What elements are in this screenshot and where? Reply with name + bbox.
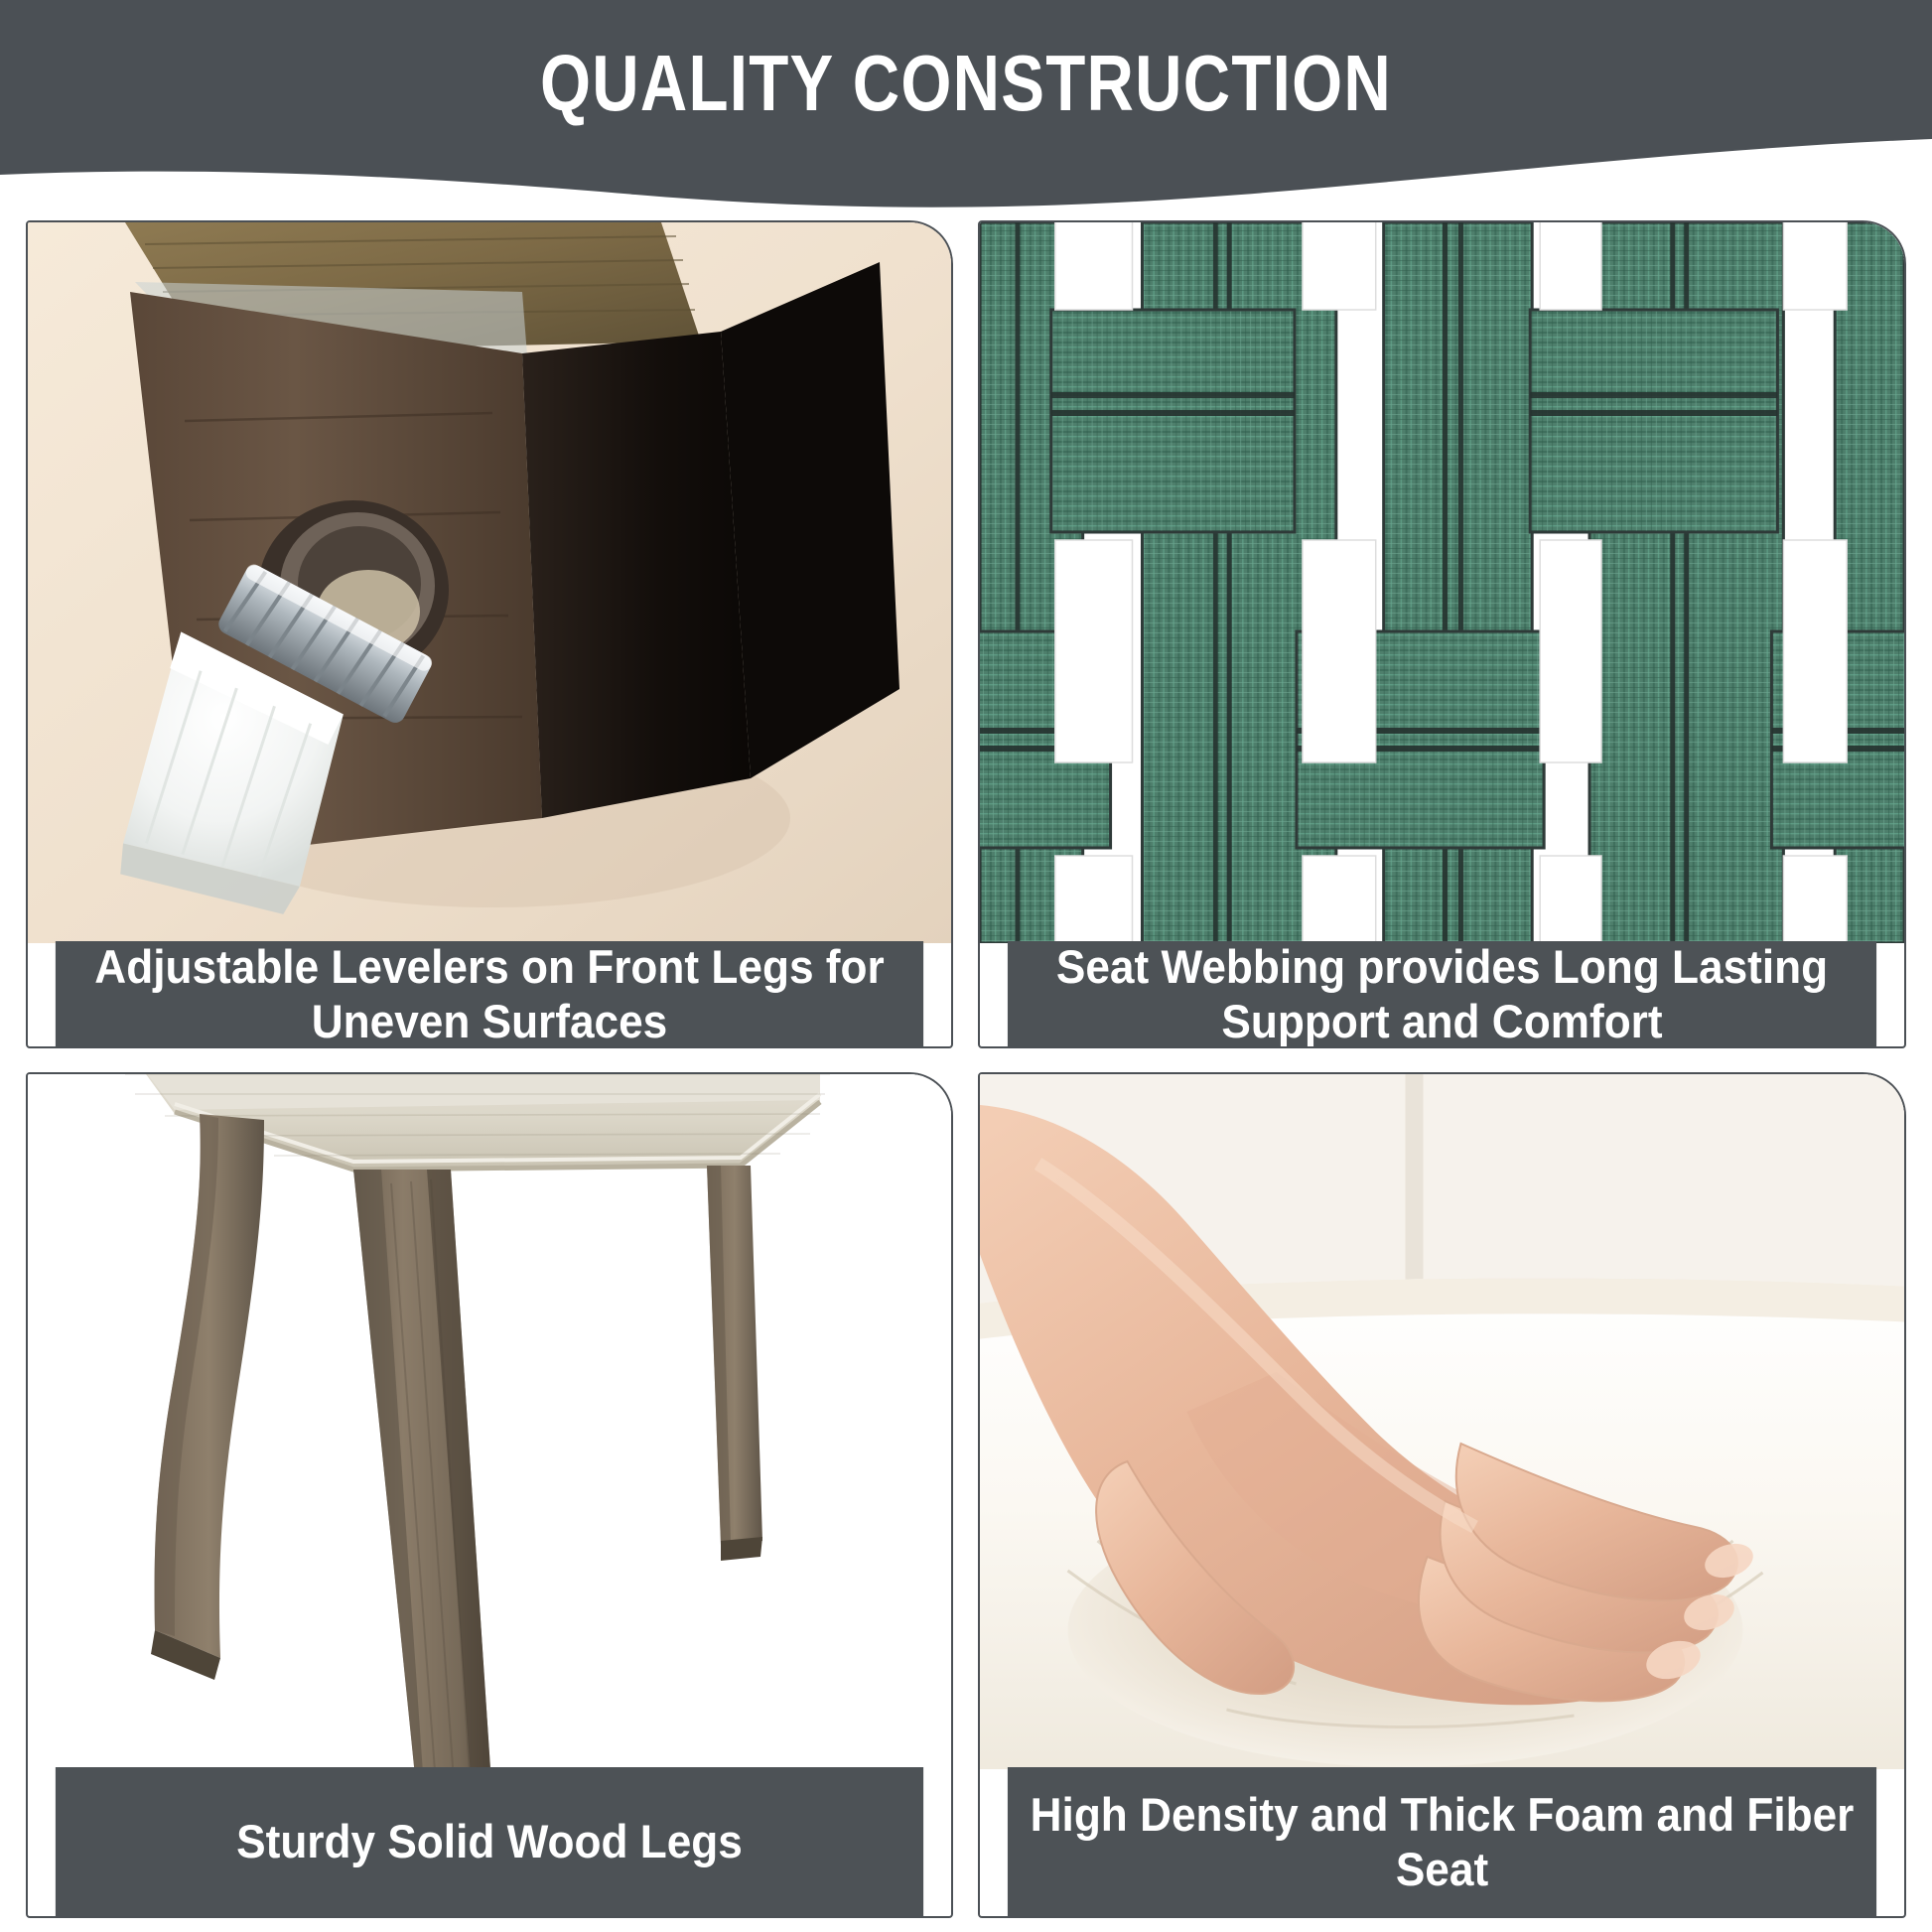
foam-photo <box>980 1074 1904 1769</box>
caption-adjustable-levelers: Adjustable Levelers on Front Legs for Un… <box>56 941 923 1046</box>
hand-pressing-foam-illustration <box>980 1074 1904 1769</box>
leveler-photo <box>28 222 951 943</box>
feature-card-high-density-foam[interactable]: High Density and Thick Foam and Fiber Se… <box>978 1072 1906 1918</box>
caption-high-density-foam: High Density and Thick Foam and Fiber Se… <box>1008 1767 1876 1916</box>
feature-card-seat-webbing[interactable]: Seat Webbing provides Long Lasting Suppo… <box>978 220 1906 1048</box>
header-banner: QUALITY CONSTRUCTION <box>0 0 1932 213</box>
feature-card-adjustable-levelers[interactable]: Adjustable Levelers on Front Legs for Un… <box>26 220 953 1048</box>
feature-grid: Adjustable Levelers on Front Legs for Un… <box>0 213 1932 1932</box>
chair-legs-illustration <box>28 1074 951 1769</box>
feature-card-solid-wood-legs[interactable]: Sturdy Solid Wood Legs <box>26 1072 953 1918</box>
leveler-illustration <box>28 222 951 943</box>
caption-seat-webbing: Seat Webbing provides Long Lasting Suppo… <box>1008 941 1876 1046</box>
webbing-weave-illustration <box>980 222 1904 943</box>
wood-legs-photo <box>28 1074 951 1769</box>
seat-webbing-photo <box>980 222 1904 943</box>
caption-solid-wood-legs: Sturdy Solid Wood Legs <box>56 1767 923 1916</box>
page-title: QUALITY CONSTRUCTION <box>174 38 1758 129</box>
